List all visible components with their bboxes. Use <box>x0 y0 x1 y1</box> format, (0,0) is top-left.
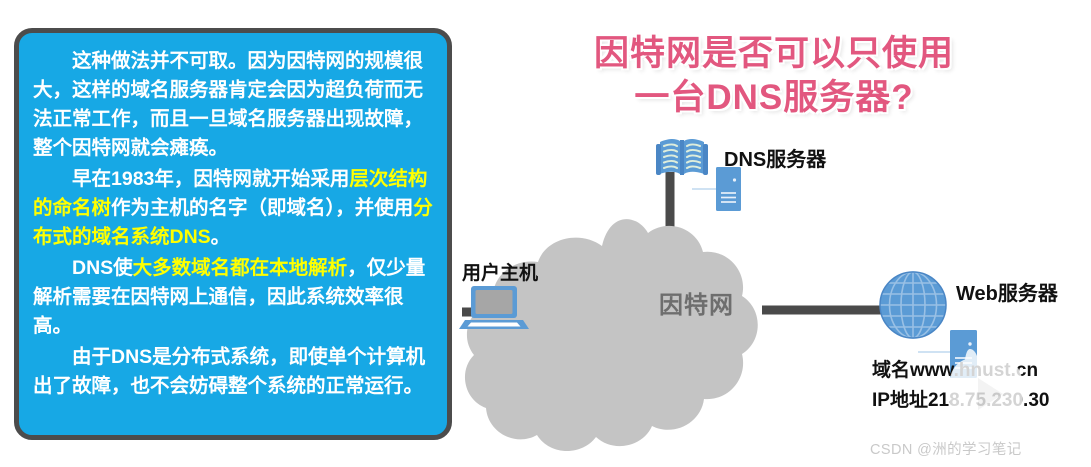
text-run-plain: 由于DNS是分布式系统，即使单个计算机出了故障，也不会妨碍整个系统的正常运行。 <box>33 346 425 397</box>
web-domain-text: 域名www.hnust.cn <box>872 355 1038 382</box>
user-host-label: 用户主机 <box>462 258 538 285</box>
text-run-plain: 作为主机的名字（即域名），并使用 <box>111 197 413 219</box>
dns-server-label: DNS服务器 <box>724 143 826 172</box>
web-server-label: Web服务器 <box>956 277 1058 306</box>
paragraph-4: 由于DNS是分布式系统，即使单个计算机出了故障，也不会妨碍整个系统的正常运行。 <box>33 343 433 401</box>
paragraph-3: DNS使大多数域名都在本地解析，仅少量解析需要在因特网上通信，因此系统效率很高。 <box>33 254 433 341</box>
internet-cloud-label: 因特网 <box>659 285 734 320</box>
network-diagram: DNS服务器 用户主机 Web服务器 因特网 域名www.hnust.cn IP… <box>452 0 1091 467</box>
right-pane: 因特网是否可以只使用 一台DNS服务器? <box>452 0 1091 467</box>
globe-icon <box>880 272 946 338</box>
open-book-icon <box>656 139 708 175</box>
text-run-plain: 早在1983年，因特网就开始采用 <box>72 168 349 190</box>
paragraph-2: 早在1983年，因特网就开始采用层次结构的命名树作为主机的名字（即域名），并使用… <box>33 165 433 252</box>
text-run-plain: 这种做法并不可取。因为因特网的规模很大，这样的域名服务器肯定会因为超负荷而无法正… <box>33 50 423 159</box>
paragraph-1: 这种做法并不可取。因为因特网的规模很大，这样的域名服务器肯定会因为超负荷而无法正… <box>33 47 433 163</box>
internet-cloud-shape <box>465 219 758 451</box>
server-box-icon-dns <box>692 167 741 211</box>
csdn-watermark-text: CSDN @洲的学习笔记 <box>870 438 1022 459</box>
web-ip-text: IP地址218.75.230.30 <box>872 385 1049 412</box>
text-run-plain: DNS使 <box>72 257 133 279</box>
explanation-text-panel: 这种做法并不可取。因为因特网的规模很大，这样的域名服务器肯定会因为超负荷而无法正… <box>14 28 452 440</box>
text-run-highlight: 大多数域名都在本地解析 <box>133 257 348 279</box>
text-run-plain: 。 <box>211 226 231 248</box>
